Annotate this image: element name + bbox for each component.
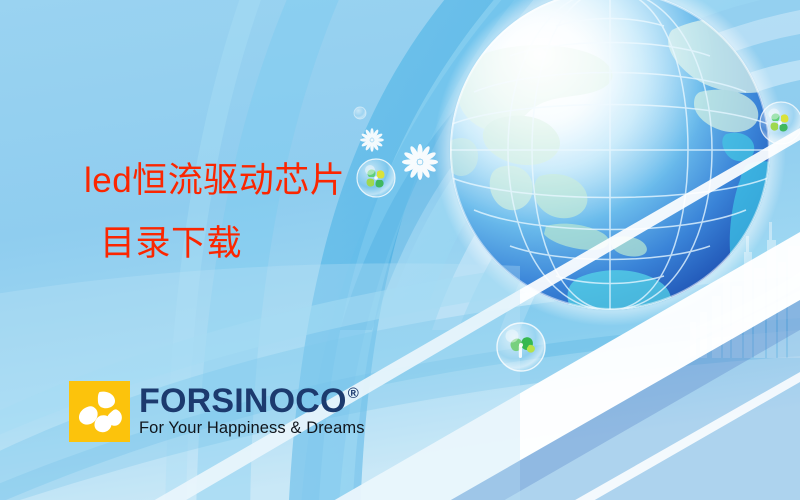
logo-text-block: FORSINOCO ® For Your Happiness & Dreams xyxy=(139,385,365,438)
logo-wordmark: FORSINOCO xyxy=(139,385,347,417)
bubble-plain-icon xyxy=(354,107,366,119)
company-logo: FORSINOCO ® For Your Happiness & Dreams xyxy=(69,381,365,442)
bubble-with-pinwheel-icon xyxy=(760,102,800,144)
logo-tagline: For Your Happiness & Dreams xyxy=(139,419,365,438)
bubble-with-pinwheel-icon xyxy=(357,159,395,197)
registered-trademark-icon: ® xyxy=(348,386,359,401)
bubble-with-leaf-icon xyxy=(497,323,545,371)
pinwheel-flower-icon xyxy=(69,381,130,442)
banner-canvas: led恒流驱动芯片 目录下载 FORSINOCO ® For Your Happ… xyxy=(0,0,800,500)
logo-wordmark-row: FORSINOCO ® xyxy=(139,385,365,417)
